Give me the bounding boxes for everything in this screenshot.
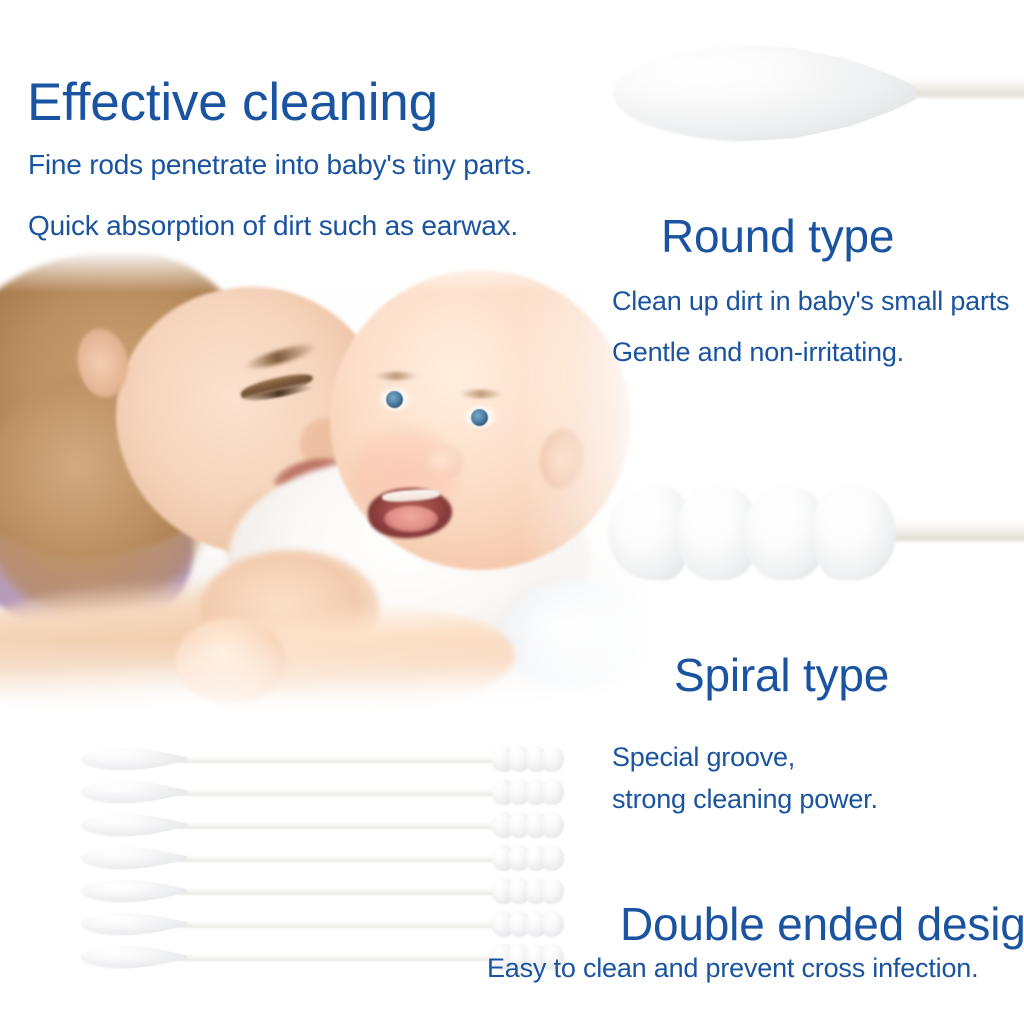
- swab-stick: [176, 953, 516, 961]
- effective-cleaning-line-2: Quick absorption of dirt such as earwax.: [28, 212, 518, 240]
- double-ended-swab: [80, 843, 550, 873]
- baby-diaper: [500, 580, 650, 690]
- spiral-segment: [542, 779, 564, 805]
- swab-stick: [176, 788, 516, 796]
- double-ended-heading: Double ended design: [620, 901, 1024, 947]
- spiral-segment: [542, 878, 564, 904]
- round-tip-cotton-swab-illustration: [600, 28, 1024, 158]
- baby-nose: [424, 446, 464, 480]
- baby-tongue: [384, 506, 438, 532]
- round-cotton-head: [80, 747, 188, 771]
- round-cotton-head: [80, 912, 188, 936]
- spiral-segment: [542, 812, 564, 838]
- spiral-type-line-1: Special groove,: [612, 744, 795, 771]
- round-cotton-head: [80, 813, 188, 837]
- effective-cleaning-line-1: Fine rods penetrate into baby's tiny par…: [28, 151, 532, 179]
- spiral-segment: [542, 845, 564, 871]
- swab-stick: [900, 74, 1024, 98]
- swab-stick: [176, 821, 516, 829]
- round-type-heading: Round type: [661, 213, 894, 259]
- baby-iris-left: [386, 391, 403, 408]
- spiral-type-heading: Spiral type: [674, 652, 889, 698]
- mother-and-baby-photo: [0, 250, 655, 720]
- double-ended-swab: [80, 810, 550, 840]
- swab-stick: [882, 516, 1024, 542]
- spiral-segment: [812, 486, 896, 580]
- double-ended-line-1: Easy to clean and prevent cross infectio…: [487, 955, 978, 982]
- round-cotton-head: [80, 879, 188, 903]
- swab-stick: [176, 854, 516, 862]
- round-type-line-2: Gentle and non-irritating.: [612, 339, 904, 366]
- spiral-segment: [542, 911, 564, 937]
- baby-iris-right: [471, 409, 488, 426]
- baby-fist: [176, 618, 286, 704]
- double-ended-swab: [80, 777, 550, 807]
- baby-eyebrow-left: [374, 372, 418, 380]
- spiral-cotton-swab-illustration: [600, 482, 1024, 592]
- double-ended-swab: [80, 909, 550, 939]
- round-cotton-head: [80, 780, 188, 804]
- round-cotton-head: [80, 846, 188, 870]
- round-type-line-1: Clean up dirt in baby's small parts: [612, 288, 1009, 315]
- swab-stick: [176, 887, 516, 895]
- swab-stick: [176, 920, 516, 928]
- spiral-type-line-2: strong cleaning power.: [612, 786, 878, 813]
- round-cotton-head: [80, 945, 188, 969]
- product-feature-graphic: Effective cleaning Fine rods penetrate i…: [0, 0, 1024, 1024]
- double-ended-swab: [80, 876, 550, 906]
- baby-eyebrow-right: [459, 390, 503, 398]
- effective-cleaning-heading: Effective cleaning: [27, 76, 438, 129]
- spiral-segment: [542, 746, 564, 772]
- round-cotton-head: [612, 44, 917, 142]
- swab-stick: [176, 755, 516, 763]
- double-ended-swab: [80, 744, 550, 774]
- double-ended-swab: [80, 942, 550, 972]
